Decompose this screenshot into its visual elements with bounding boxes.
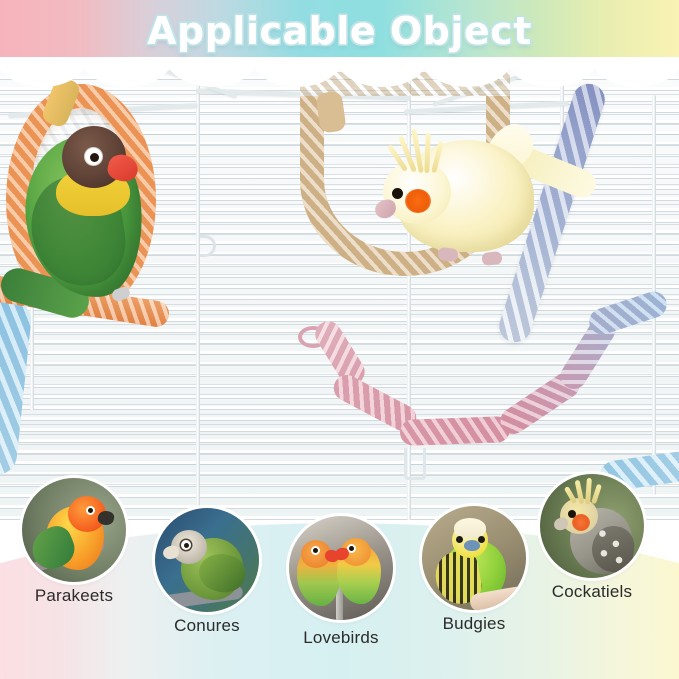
bird-label-cockatiels: Cockatiels	[517, 582, 667, 602]
bird-label-conures: Conures	[132, 616, 282, 636]
budgie-photo	[422, 506, 526, 610]
bird-label-lovebirds: Lovebirds	[266, 628, 416, 648]
bird-head-cap	[454, 518, 486, 538]
bird-label-budgies: Budgies	[399, 614, 549, 634]
scallop	[421, 57, 513, 87]
bird-thumbnail-lovebirds[interactable]	[289, 516, 393, 620]
lovebird-left-eye	[311, 546, 320, 555]
bird-thumbnail-cockatiels[interactable]	[540, 474, 644, 578]
bird-thumbnail-parakeets[interactable]	[22, 478, 126, 582]
scallop	[0, 57, 88, 87]
scallop	[251, 57, 343, 87]
cockatiel-crest	[391, 125, 447, 173]
bird-card-parakeets[interactable]: Parakeets	[22, 478, 126, 582]
bird-label-parakeets: Parakeets	[0, 586, 149, 606]
cockatiel-eye	[392, 188, 403, 199]
scallop	[81, 57, 173, 87]
bird-card-cockatiels[interactable]: Cockatiels	[540, 474, 644, 578]
sun-conure-photo	[22, 478, 126, 582]
page-title: Applicable Object	[0, 9, 679, 53]
cockatiel-photo	[540, 474, 644, 578]
scallop-border	[0, 57, 679, 91]
bird-eye	[181, 540, 191, 550]
cockatiel-cheek-patch	[405, 189, 431, 213]
bird-thumbnail-budgies[interactable]	[422, 506, 526, 610]
bird-thumbnail-conures[interactable]	[155, 508, 259, 612]
bird-card-budgies[interactable]: Budgies	[422, 506, 526, 610]
bird-card-lovebirds[interactable]: Lovebirds	[289, 516, 393, 620]
lovebird-pair-photo	[289, 516, 393, 620]
scallop	[336, 57, 428, 87]
bird-crest	[566, 478, 602, 504]
bird-eye	[568, 510, 576, 518]
bird-thumbnail-row: Parakeets Conures	[0, 418, 679, 679]
bird-eye	[456, 536, 463, 543]
infographic-canvas: Applicable Object Parakeets	[0, 0, 679, 679]
bird-card-conures[interactable]: Conures	[155, 508, 259, 612]
green-cheek-conure-photo	[155, 508, 259, 612]
lovebird-pupil	[90, 153, 99, 162]
bird-eye	[86, 506, 95, 515]
scallop	[166, 57, 258, 87]
bird-cere	[464, 540, 480, 551]
scallop	[591, 57, 679, 87]
scallop	[506, 57, 598, 87]
